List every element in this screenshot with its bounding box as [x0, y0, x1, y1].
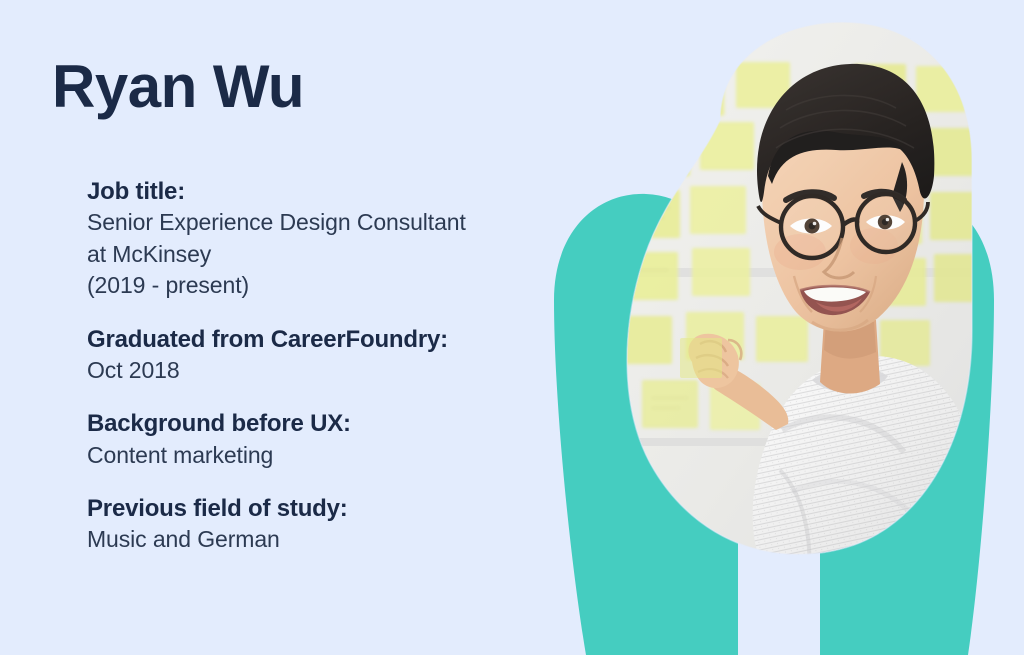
field-label: Background before UX: [87, 408, 537, 439]
field-value-line: at McKinsey [87, 239, 537, 271]
profile-field-graduated: Graduated from CareerFoundry: Oct 2018 [87, 324, 537, 387]
field-value-line: (2019 - present) [87, 270, 537, 302]
profile-field-job-title: Job title: Senior Experience Design Cons… [87, 176, 537, 302]
profile-text-column: Ryan Wu Job title: Senior Experience Des… [0, 0, 540, 655]
profile-field-background: Background before UX: Content marketing [87, 408, 537, 471]
field-value-line: Content marketing [87, 440, 537, 472]
field-value-line: Music and German [87, 524, 537, 556]
field-value-line: Senior Experience Design Consultant [87, 207, 537, 239]
field-label: Previous field of study: [87, 493, 537, 524]
field-label: Graduated from CareerFoundry: [87, 324, 537, 355]
field-value-line: Oct 2018 [87, 355, 537, 387]
profile-fields-list: Job title: Senior Experience Design Cons… [87, 176, 537, 556]
field-label: Job title: [87, 176, 537, 207]
page-title: Ryan Wu [52, 57, 304, 117]
profile-field-previous-study: Previous field of study: Music and Germa… [87, 493, 537, 556]
profile-photo-composition [524, 0, 1024, 655]
